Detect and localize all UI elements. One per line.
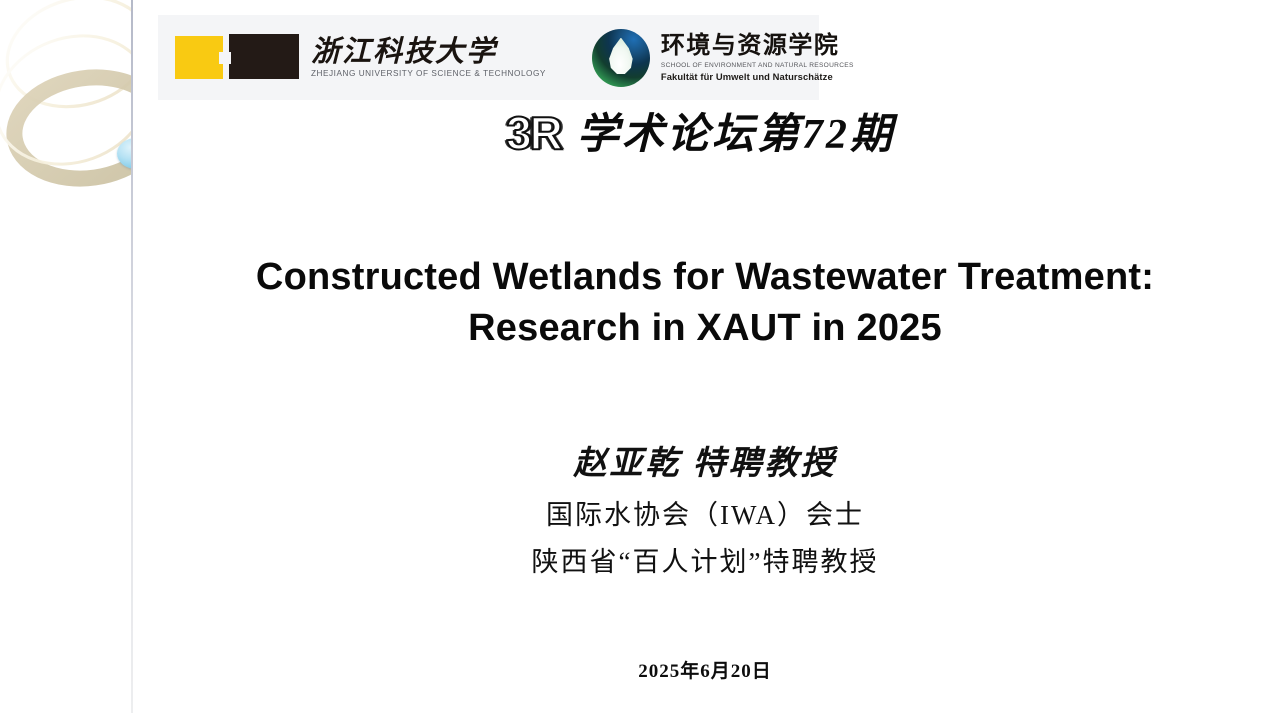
header-logo-bar: 浙江科技大学 ZHEJIANG UNIVERSITY OF SCIENCE & …: [158, 15, 819, 100]
decorative-sidebar: [0, 0, 131, 713]
school-logo: 环境与资源学院 SCHOOL OF ENVIRONMENT AND NATURA…: [592, 29, 854, 87]
slide-title-line1: Constructed Wetlands for Wastewater Trea…: [160, 252, 1250, 303]
water-droplet-sphere-icon: [592, 29, 650, 87]
presentation-title-slide: 浙江科技大学 ZHEJIANG UNIVERSITY OF SCIENCE & …: [0, 0, 1270, 713]
speaker-block: 赵亚乾 特聘教授 国际水协会（IWA）会士 陕西省“百人计划”特聘教授: [160, 446, 1250, 576]
forum-label: 学术论坛第72期: [577, 114, 895, 156]
speaker-credential-2: 陕西省“百人计划”特聘教授: [160, 549, 1250, 576]
university-name-cn: 浙江科技大学: [311, 37, 546, 67]
sidebar-divider: [131, 0, 133, 713]
zust-yellow-square: [175, 36, 223, 79]
university-name-en: ZHEJIANG UNIVERSITY OF SCIENCE & TECHNOL…: [311, 69, 546, 78]
school-name-de: Fakultät für Umwelt und Naturschätze: [661, 71, 854, 82]
zust-block-mark-icon: [175, 34, 299, 81]
speaker-credential-1: 国际水协会（IWA）会士: [160, 502, 1250, 529]
three-r-logo-icon: 3R: [506, 110, 561, 156]
sidebar-rings-graphic: [0, 0, 131, 300]
school-name-cn: 环境与资源学院: [661, 33, 854, 59]
school-logo-text: 环境与资源学院 SCHOOL OF ENVIRONMENT AND NATURA…: [661, 33, 854, 82]
university-logo: 浙江科技大学 ZHEJIANG UNIVERSITY OF SCIENCE & …: [175, 34, 546, 81]
university-logo-text: 浙江科技大学 ZHEJIANG UNIVERSITY OF SCIENCE & …: [311, 37, 546, 78]
droplet-shape: [607, 38, 635, 76]
zust-notch: [219, 52, 231, 64]
forum-heading: 3R 学术论坛第72期: [131, 112, 1270, 158]
presentation-date: 2025年6月20日: [160, 656, 1250, 683]
speaker-name: 赵亚乾 特聘教授: [160, 446, 1250, 482]
school-name-en: SCHOOL OF ENVIRONMENT AND NATURAL RESOUR…: [661, 62, 854, 69]
slide-title-line2: Research in XAUT in 2025: [160, 303, 1250, 354]
zust-dark-block: [229, 34, 299, 79]
slide-title: Constructed Wetlands for Wastewater Trea…: [160, 252, 1250, 354]
